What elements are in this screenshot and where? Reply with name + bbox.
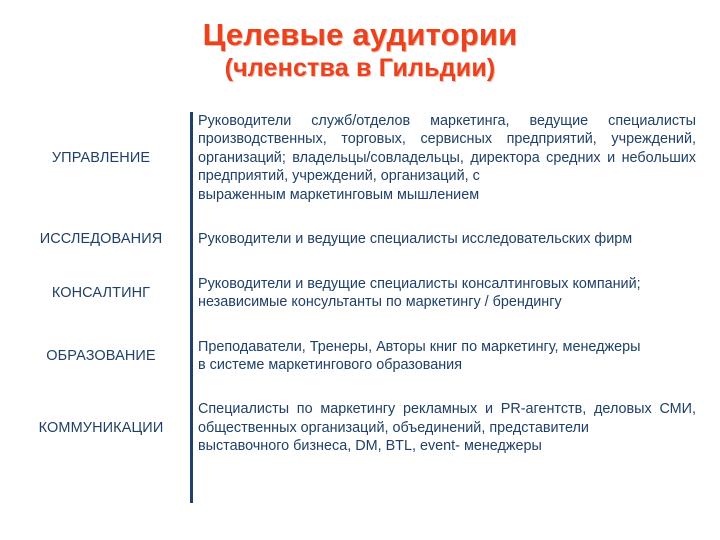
- description-management: Руководители служб/отделов маркетинга, в…: [184, 112, 696, 204]
- audience-table: УПРАВЛЕНИЕ Руководители служб/отделов ма…: [24, 112, 696, 456]
- category-label-communications: КОММУНИКАЦИИ: [24, 420, 184, 436]
- table-row: КОММУНИКАЦИИ Специалисты по маркетингу р…: [24, 400, 696, 455]
- category-label-management: УПРАВЛЕНИЕ: [24, 150, 184, 166]
- description-education: Преподаватели, Тренеры, Авторы книг по м…: [184, 338, 696, 375]
- description-body: Руководители и ведущие специалисты конса…: [198, 275, 696, 293]
- description-body: Руководители и ведущие специалисты иссле…: [198, 230, 696, 248]
- table-row: УПРАВЛЕНИЕ Руководители служб/отделов ма…: [24, 112, 696, 204]
- page-subtitle: (членства в Гильдии): [0, 54, 720, 83]
- description-consulting: Руководители и ведущие специалисты конса…: [184, 275, 696, 312]
- description-body: Руководители служб/отделов маркетинга, в…: [198, 112, 696, 186]
- description-last-line: выставочного бизнеса, DM, BTL, event- ме…: [198, 437, 696, 455]
- description-body: Специалисты по маркетингу рекламных и PR…: [198, 400, 696, 437]
- category-label-consulting: КОНСАЛТИНГ: [24, 285, 184, 301]
- description-last-line: независимые консультанты по маркетингу /…: [198, 293, 696, 311]
- description-research: Руководители и ведущие специалисты иссле…: [184, 230, 696, 248]
- table-row: ОБРАЗОВАНИЕ Преподаватели, Тренеры, Авто…: [24, 338, 696, 375]
- category-label-education: ОБРАЗОВАНИЕ: [24, 348, 184, 364]
- title-block: Целевые аудитории (членства в Гильдии): [0, 18, 720, 82]
- table-row: КОНСАЛТИНГ Руководители и ведущие специа…: [24, 275, 696, 312]
- description-last-line: в системе маркетингового образования: [198, 356, 696, 374]
- description-last-line: выраженным маркетинговым мышлением: [198, 186, 696, 204]
- slide-canvas: Целевые аудитории (членства в Гильдии) У…: [0, 0, 720, 540]
- description-body: Преподаватели, Тренеры, Авторы книг по м…: [198, 338, 696, 356]
- column-divider: [190, 112, 193, 503]
- category-label-research: ИССЛЕДОВАНИЯ: [24, 231, 184, 247]
- table-row: ИССЛЕДОВАНИЯ Руководители и ведущие спец…: [24, 230, 696, 248]
- page-title: Целевые аудитории: [0, 18, 720, 53]
- description-communications: Специалисты по маркетингу рекламных и PR…: [184, 400, 696, 455]
